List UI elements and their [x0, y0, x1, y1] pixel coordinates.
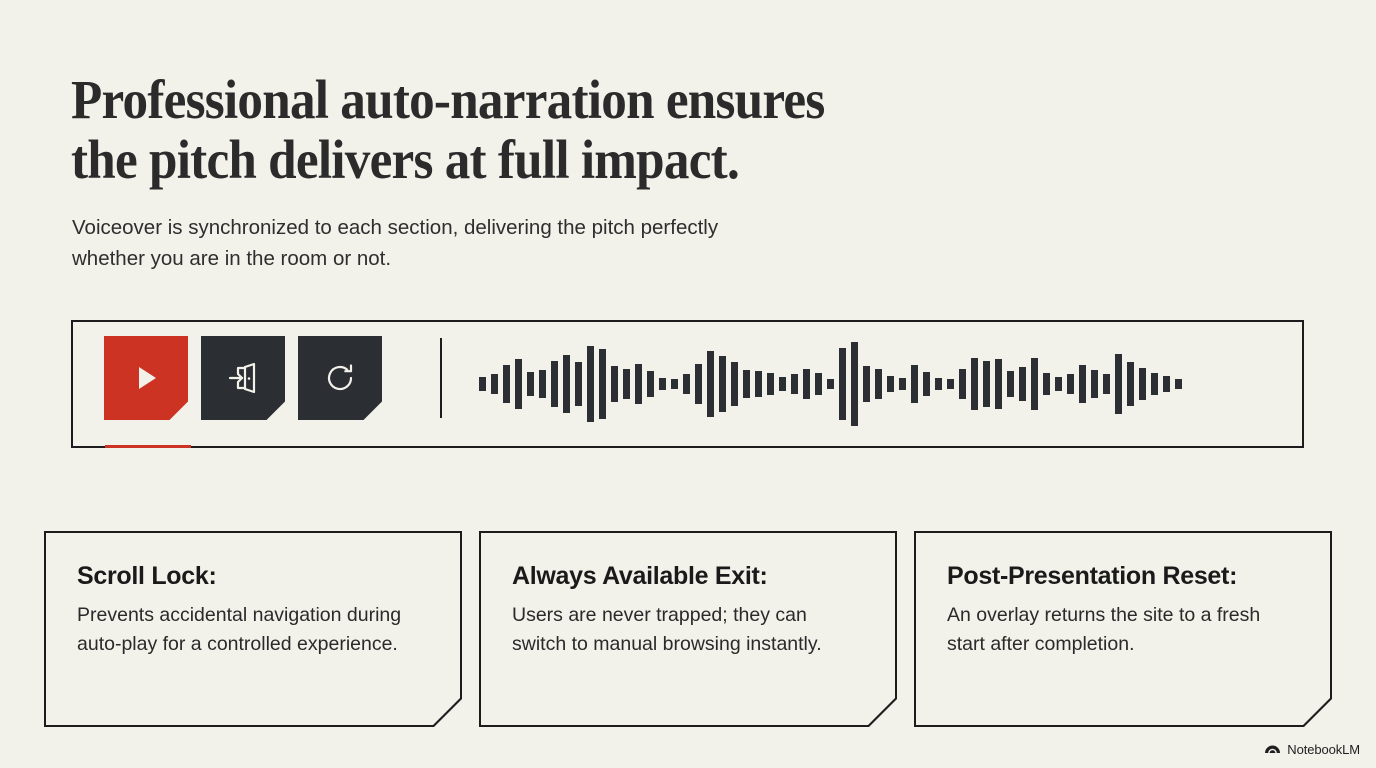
audio-player-panel: [71, 320, 1304, 448]
waveform-bar: [1163, 376, 1170, 392]
waveform-bar: [515, 359, 522, 409]
feature-card: Scroll Lock: Prevents accidental navigat…: [44, 531, 462, 727]
waveform-bar: [827, 379, 834, 389]
waveform-bar: [1067, 374, 1074, 394]
waveform-bar: [479, 377, 486, 391]
reset-button[interactable]: [298, 336, 382, 420]
waveform-bar: [983, 361, 990, 407]
reload-icon: [320, 358, 360, 398]
waveform-bar: [1151, 373, 1158, 395]
waveform-bar: [923, 372, 930, 396]
waveform-bar: [575, 362, 582, 406]
play-button[interactable]: [104, 336, 188, 420]
waveform-bar: [971, 358, 978, 410]
play-icon: [128, 360, 164, 396]
notebooklm-branding: NotebookLM: [1264, 740, 1360, 759]
card-body: Prevents accidental navigation during au…: [77, 601, 430, 659]
waveform-bar: [731, 362, 738, 406]
waveform-bar: [995, 359, 1002, 409]
waveform-bar: [695, 364, 702, 404]
waveform-bar: [851, 342, 858, 426]
waveform-bar: [563, 355, 570, 413]
exit-button[interactable]: [201, 336, 285, 420]
waveform-bar: [635, 364, 642, 404]
waveform-bar: [791, 374, 798, 394]
waveform-bar: [671, 379, 678, 389]
feature-card: Always Available Exit: Users are never t…: [479, 531, 897, 727]
waveform-bar: [611, 366, 618, 402]
card-body: Users are never trapped; they can switch…: [512, 601, 865, 659]
page-title: Professional auto-narration ensures the …: [71, 70, 964, 190]
waveform-bar: [659, 378, 666, 390]
waveform-bar: [779, 377, 786, 391]
card-title: Always Available Exit:: [512, 561, 865, 591]
exit-door-icon: [223, 358, 263, 398]
waveform-bar: [623, 369, 630, 399]
waveform-bar: [647, 371, 654, 397]
waveform-bar: [539, 370, 546, 398]
waveform-bar: [1127, 362, 1134, 406]
waveform-bar: [683, 374, 690, 394]
waveform-bar: [491, 374, 498, 394]
waveform-bar: [959, 369, 966, 399]
waveform-bar: [1079, 365, 1086, 403]
waveform-bar: [551, 361, 558, 407]
notebooklm-wordmark: NotebookLM: [1287, 742, 1360, 757]
waveform-bar: [587, 346, 594, 422]
waveform-bar: [1043, 373, 1050, 395]
feature-card: Post-Presentation Reset: An overlay retu…: [914, 531, 1332, 727]
waveform-bar: [1019, 367, 1026, 401]
waveform-bar: [899, 378, 906, 390]
waveform-bar: [1091, 370, 1098, 398]
page-subtitle-line-2: whether you are in the room or not.: [72, 243, 912, 274]
waveform-bar: [1115, 354, 1122, 414]
page-subtitle: Voiceover is synchronized to each sectio…: [72, 212, 912, 274]
waveform-bar: [887, 376, 894, 392]
waveform-bar: [1031, 358, 1038, 410]
playback-progress-bar[interactable]: [105, 445, 191, 448]
waveform-bar: [839, 348, 846, 420]
page-title-line-1: Professional auto-narration ensures: [71, 70, 964, 130]
waveform-bar: [875, 369, 882, 399]
audio-waveform[interactable]: [479, 322, 1286, 446]
waveform-bar: [935, 378, 942, 390]
waveform-bar: [707, 351, 714, 417]
waveform-bar: [599, 349, 606, 419]
card-body: An overlay returns the site to a fresh s…: [947, 601, 1300, 659]
card-title: Scroll Lock:: [77, 561, 430, 591]
waveform-bar: [767, 373, 774, 395]
page-subtitle-line-1: Voiceover is synchronized to each sectio…: [72, 212, 912, 243]
waveform-bar: [815, 373, 822, 395]
waveform-bar: [803, 369, 810, 399]
notebooklm-logo-icon: [1264, 740, 1281, 759]
page-title-line-2: the pitch delivers at full impact.: [71, 130, 964, 190]
waveform-bar: [755, 371, 762, 397]
waveform-bar: [1139, 368, 1146, 400]
feature-card-list: Scroll Lock: Prevents accidental navigat…: [44, 531, 1332, 727]
waveform-bar: [503, 365, 510, 403]
waveform-bar: [1007, 371, 1014, 397]
waveform-bar: [1103, 374, 1110, 394]
waveform-bar: [527, 372, 534, 396]
slide-root: Professional auto-narration ensures the …: [0, 0, 1376, 768]
controls-waveform-divider: [440, 338, 442, 418]
waveform-bar: [743, 370, 750, 398]
waveform-bar: [911, 365, 918, 403]
waveform-bar: [1175, 379, 1182, 389]
waveform-bar: [863, 366, 870, 402]
waveform-bar: [1055, 377, 1062, 391]
waveform-bar: [719, 356, 726, 412]
card-title: Post-Presentation Reset:: [947, 561, 1300, 591]
waveform-bar: [947, 379, 954, 389]
player-controls: [104, 336, 382, 420]
